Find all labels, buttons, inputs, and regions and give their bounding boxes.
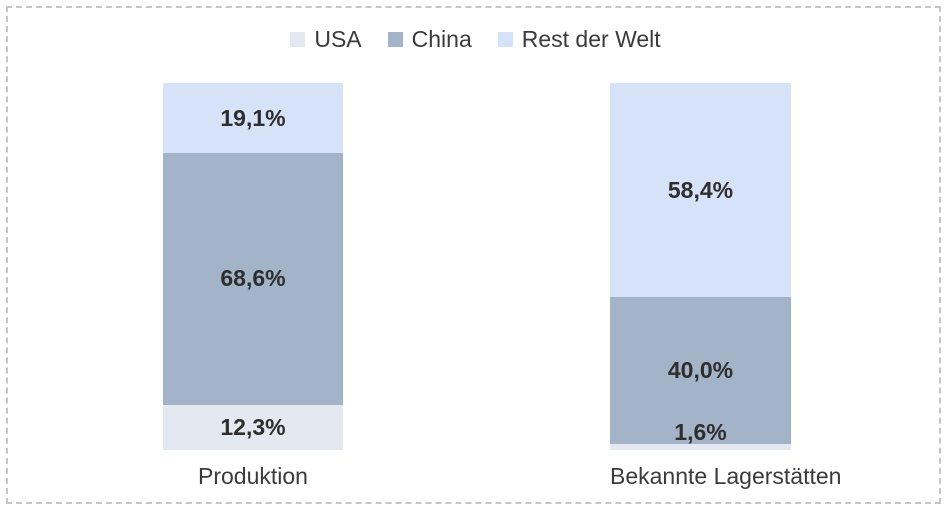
category-label-bekannte-lagerstaetten: Bekannte Lagerstätten xyxy=(610,463,791,490)
bar-segment-label: 40,0% xyxy=(668,359,733,382)
bar-segment-label: 58,4% xyxy=(668,179,733,202)
bar-segment-china[interactable]: 40,0% xyxy=(610,297,791,444)
bar-segment-label: 12,3% xyxy=(220,416,285,439)
bar-segment-usa[interactable]: 12,3% xyxy=(163,405,343,450)
bar-segment-rest-der-welt[interactable]: 19,1% xyxy=(163,83,343,153)
stacked-bar: 58,4% 40,0% 1,6% xyxy=(610,83,791,450)
category-label-produktion: Produktion xyxy=(163,463,343,490)
chart-frame: USA China Rest der Welt 19,1% 68,6% 12,3… xyxy=(6,6,941,504)
bar-segment-label: 68,6% xyxy=(220,267,285,290)
bar-group-bekannte-lagerstaetten: 58,4% 40,0% 1,6% xyxy=(610,83,791,450)
stacked-bar: 19,1% 68,6% 12,3% xyxy=(163,83,343,450)
bar-segment-rest-der-welt[interactable]: 58,4% xyxy=(610,83,791,297)
bar-segment-usa[interactable]: 1,6% xyxy=(610,444,791,450)
plot-area: 19,1% 68,6% 12,3% 58,4% 40,0% xyxy=(8,8,943,506)
bar-group-produktion: 19,1% 68,6% 12,3% xyxy=(163,83,343,450)
bar-segment-china[interactable]: 68,6% xyxy=(163,153,343,405)
bar-segment-label: 19,1% xyxy=(220,107,285,130)
